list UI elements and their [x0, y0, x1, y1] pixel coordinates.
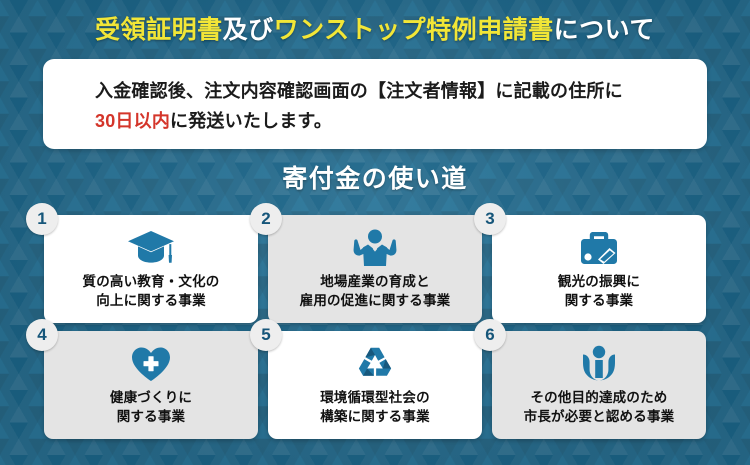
usage-card-6-label-line2: 市長が必要と認める事業 — [524, 407, 675, 426]
notice-line-2: 30日以内に発送いたします。 — [95, 106, 707, 136]
page-title-part-2: 及び — [223, 16, 274, 44]
usage-card-2-label-line2: 雇用の促進に関する事業 — [300, 291, 451, 310]
usage-card-grid: 1 質の高い教育・文化の 向上に関する事業 2 — [44, 215, 706, 439]
usage-card-1-label-line2: 向上に関する事業 — [83, 291, 220, 310]
suitcase-icon — [576, 227, 622, 269]
card-number-badge-4: 4 — [26, 319, 58, 351]
recycle-icon — [354, 343, 396, 385]
usage-card-3-label: 観光の振興に 関する事業 — [558, 272, 640, 310]
notice-box: 入金確認後、注文内容確認画面の【注文者情報】に記載の住所に 30日以内に発送いた… — [43, 59, 707, 149]
usage-card-5[interactable]: 5 — [268, 331, 482, 439]
heart-plus-icon — [129, 343, 173, 385]
usage-card-5-label: 環境循環型社会の 構築に関する事業 — [320, 388, 430, 426]
card-number-badge-3: 3 — [474, 203, 506, 235]
usage-card-5-label-line1: 環境循環型社会の — [320, 388, 430, 407]
page-title: 受領証明書及びワンストップ特例申請書について — [0, 14, 750, 46]
page-title-part-3: ワンストップ特例申請書 — [274, 16, 554, 44]
notice-line-1: 入金確認後、注文内容確認画面の【注文者情報】に記載の住所に — [95, 76, 707, 106]
card-number-badge-2: 2 — [250, 203, 282, 235]
usage-card-4-label: 健康づくりに 関する事業 — [110, 388, 192, 426]
usage-card-2-label-line1: 地場産業の育成と — [300, 272, 451, 291]
usage-card-3[interactable]: 3 観光の振興に 関する事業 — [492, 215, 706, 323]
card-number-badge-1: 1 — [26, 203, 58, 235]
usage-card-6-label: その他目的達成のため 市長が必要と認める事業 — [524, 388, 675, 426]
card-number-badge-5: 5 — [250, 319, 282, 351]
graduation-cap-icon — [127, 227, 175, 269]
notice-emphasis-deadline: 30日以内 — [95, 111, 170, 131]
page-title-part-4: について — [554, 16, 655, 44]
card-number-badge-6: 6 — [474, 319, 506, 351]
usage-card-4-label-line2: 関する事業 — [110, 407, 192, 426]
page-title-part-1: 受領証明書 — [95, 16, 223, 44]
usage-card-4[interactable]: 4 健康づくりに 関する事業 — [44, 331, 258, 439]
notice-line-2-rest: に発送いたします。 — [170, 111, 332, 131]
usage-card-3-label-line2: 関する事業 — [558, 291, 640, 310]
usage-card-2[interactable]: 2 地場産業の育成と 雇用の促進に関する事業 — [268, 215, 482, 323]
usage-card-1-label-line1: 質の高い教育・文化の — [83, 272, 220, 291]
person-raised-arms-icon — [352, 227, 398, 269]
person-in-hands-icon — [580, 343, 618, 385]
usage-card-6[interactable]: 6 その他目的達成のため 市長が必要と認める事業 — [492, 331, 706, 439]
usage-card-4-label-line1: 健康づくりに — [110, 388, 192, 407]
usage-card-1[interactable]: 1 質の高い教育・文化の 向上に関する事業 — [44, 215, 258, 323]
section-heading: 寄付金の使い道 — [0, 162, 750, 196]
infographic-page: 受領証明書及びワンストップ特例申請書について 入金確認後、注文内容確認画面の【注… — [0, 0, 750, 465]
usage-card-1-label: 質の高い教育・文化の 向上に関する事業 — [83, 272, 220, 310]
usage-card-6-label-line1: その他目的達成のため — [524, 388, 675, 407]
usage-card-2-label: 地場産業の育成と 雇用の促進に関する事業 — [300, 272, 451, 310]
usage-card-3-label-line1: 観光の振興に — [558, 272, 640, 291]
usage-card-5-label-line2: 構築に関する事業 — [320, 407, 430, 426]
